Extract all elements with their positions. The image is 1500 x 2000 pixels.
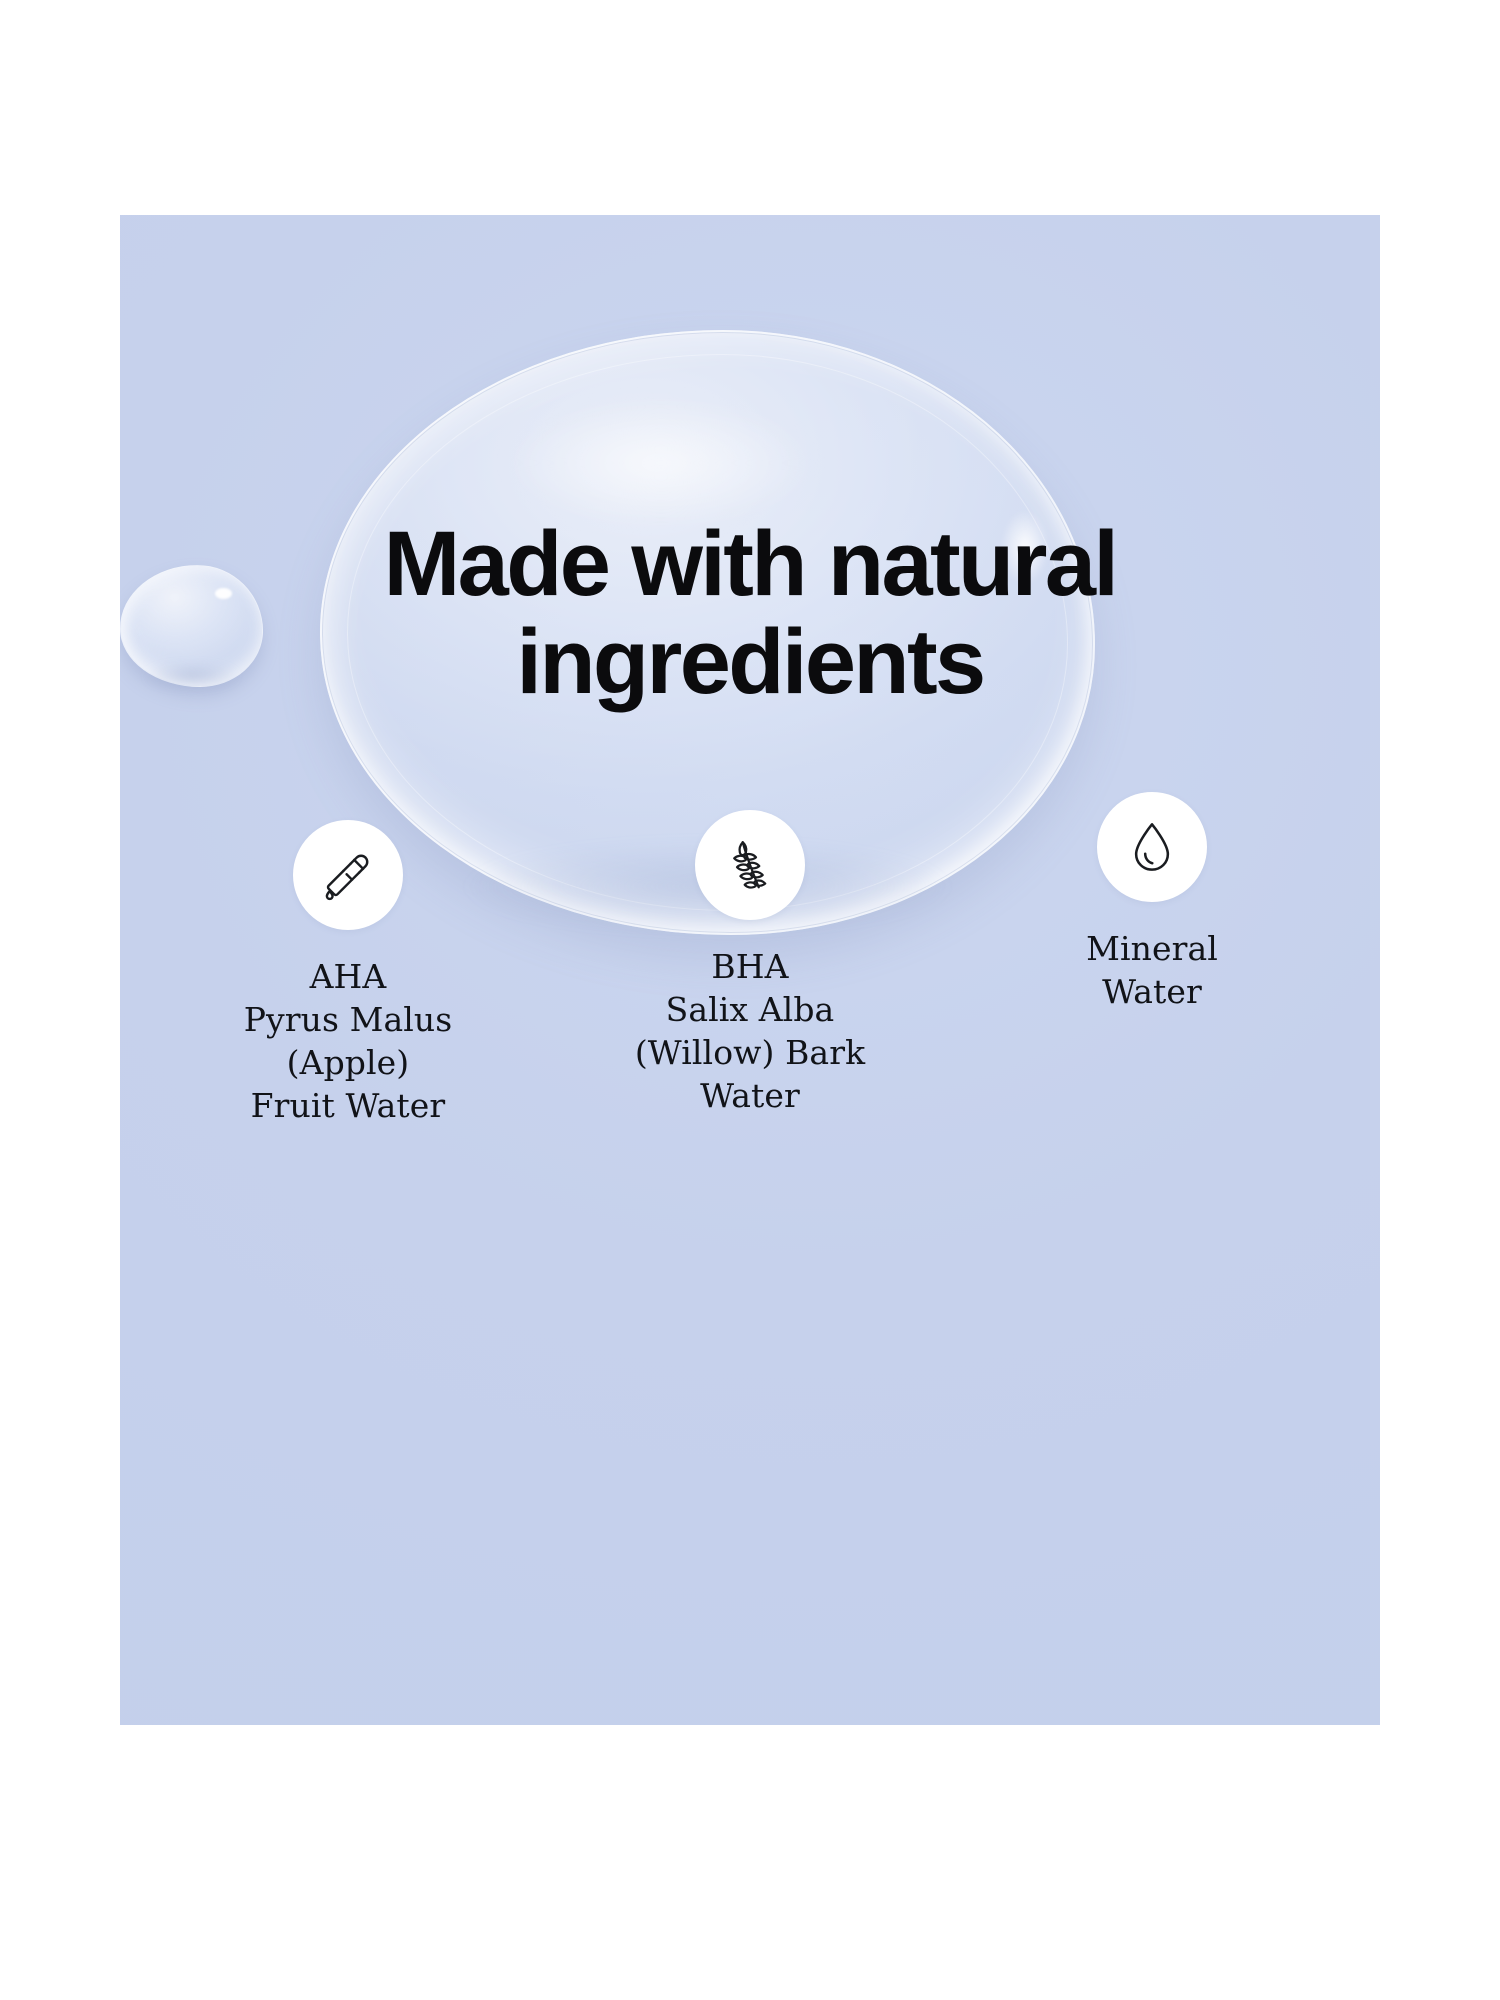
willow-leaf-branch-icon xyxy=(719,834,781,896)
page-title: Made with natural ingredients xyxy=(120,515,1380,712)
ingredient-item-bha: BHA Salix Alba (Willow) Bark Water xyxy=(600,810,900,1118)
ingredient-list: AHA Pyrus Malus (Apple) Fruit Water xyxy=(120,810,1380,1128)
ingredient-item-aha: AHA Pyrus Malus (Apple) Fruit Water xyxy=(198,820,498,1128)
water-drop-icon xyxy=(1123,818,1181,876)
product-feature-panel: Made with natural ingredients xyxy=(120,215,1380,1725)
ingredient-item-mineral-water: Mineral Water xyxy=(1002,792,1302,1014)
headline-line-2: ingredients xyxy=(216,613,1284,711)
ingredient-icon-badge-mineral-water xyxy=(1097,792,1207,902)
ingredient-label-bha: BHA Salix Alba (Willow) Bark Water xyxy=(600,946,900,1118)
ingredient-icon-badge-bha xyxy=(695,810,805,920)
dropper-icon xyxy=(318,845,378,905)
page-canvas: Made with natural ingredients xyxy=(0,0,1500,2000)
headline-line-1: Made with natural xyxy=(216,515,1284,613)
ingredient-label-aha: AHA Pyrus Malus (Apple) Fruit Water xyxy=(244,956,453,1128)
ingredient-icon-badge-aha xyxy=(293,820,403,930)
ingredient-label-mineral-water: Mineral Water xyxy=(1086,928,1218,1014)
